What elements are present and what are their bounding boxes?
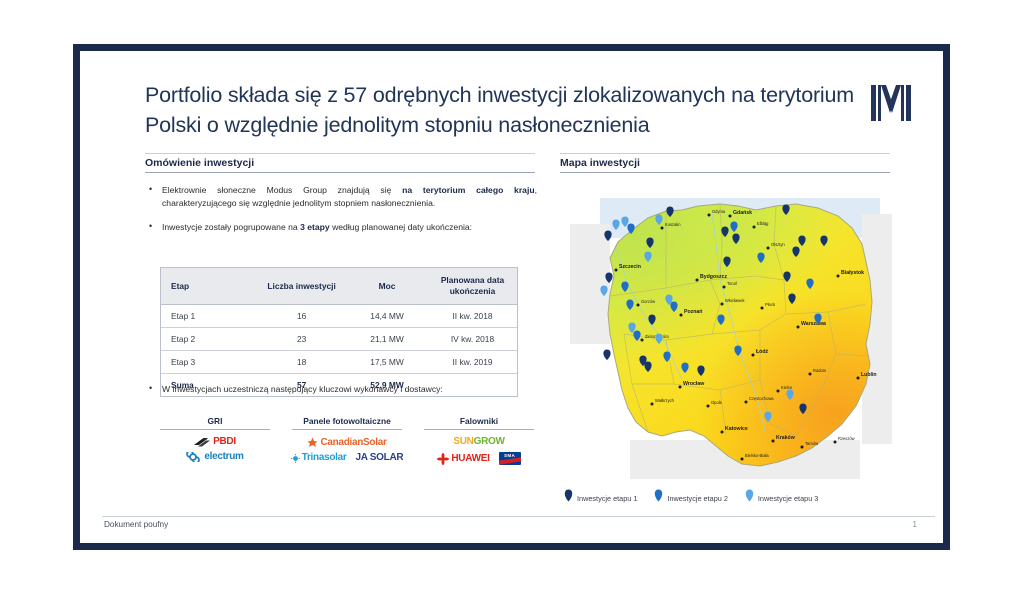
trinasolar-logo: Trinasolar xyxy=(291,453,347,463)
section-label: Omówienie inwestycji xyxy=(145,157,535,172)
map-pin-icon xyxy=(564,489,573,507)
stages-table: EtapLiczba inwestycjiMocPlanowana data u… xyxy=(160,267,518,397)
table-col-header: Liczba inwestycji xyxy=(257,268,346,305)
table-header-row: EtapLiczba inwestycjiMocPlanowana data u… xyxy=(161,268,517,305)
huawei-logo-mark xyxy=(437,453,449,465)
overview-bullets: Elektrownie słoneczne Modus Group znajdu… xyxy=(145,184,537,245)
slide-body: Portfolio składa się z 57 odrębnych inwe… xyxy=(80,51,943,543)
table-cell: 21,1 MW xyxy=(346,328,428,351)
city-label: Płock xyxy=(765,302,776,307)
city-dot xyxy=(772,440,775,443)
canadian-solar-logo-text: CanadianSolar xyxy=(320,438,386,448)
city-label: Wałbrzych xyxy=(655,398,675,403)
table-cell: 17,5 MW xyxy=(346,351,428,374)
city-label: Olsztyn xyxy=(771,242,785,247)
city-dot xyxy=(767,247,770,250)
rule-top xyxy=(560,153,890,154)
city-dot xyxy=(641,339,644,342)
city-dot xyxy=(753,226,756,229)
map-pin-icon xyxy=(745,489,754,507)
city-dot xyxy=(857,377,860,380)
logo-row: PBDI xyxy=(194,437,236,447)
canadian-solar-logo-mark xyxy=(307,437,318,448)
city-label: Warszawa xyxy=(801,321,826,327)
city-dot xyxy=(708,214,711,217)
huawei-logo: HUAWEI xyxy=(437,453,489,465)
table-cell: Etap 1 xyxy=(161,305,257,328)
city-dot xyxy=(721,303,724,306)
table-col-header: Planowana data ukończenia xyxy=(428,268,517,305)
city-label: Kraków xyxy=(776,435,796,441)
rule-top xyxy=(145,153,535,154)
table-row: Etap 11614,4 MWII kw. 2018 xyxy=(161,305,517,328)
supplier-columns: GRIPBDIelectrumPanele fotowoltaiczneCana… xyxy=(152,406,542,465)
electrum-logo-text: electrum xyxy=(204,452,243,462)
section-header-overview: Omówienie inwestycji xyxy=(145,153,535,173)
logo-row: electrum xyxy=(186,452,243,462)
city-label: Radom xyxy=(813,368,827,373)
city-dot xyxy=(723,286,726,289)
pbdi-logo: PBDI xyxy=(194,437,236,447)
pbdi-logo-text: PBDI xyxy=(213,437,236,447)
overview-bullet-1: Elektrownie słoneczne Modus Group znajdu… xyxy=(145,184,537,210)
table-cell: IV kw. 2018 xyxy=(428,328,517,351)
sma-logo: SMA xyxy=(499,452,521,465)
city-dot xyxy=(745,401,748,404)
supplier-rule xyxy=(160,429,270,430)
legend-label: Inwestycje etapu 1 xyxy=(577,494,637,503)
table-cell: Etap 2 xyxy=(161,328,257,351)
table-col-header: Moc xyxy=(346,268,428,305)
trinasolar-logo-text: Trinasolar xyxy=(302,453,347,463)
city-dot xyxy=(834,441,837,444)
legend-item-stage-3: Inwestycje etapu 3 xyxy=(745,489,818,507)
city-dot xyxy=(741,458,744,461)
city-label: Gdańsk xyxy=(733,210,752,216)
electrum-logo: electrum xyxy=(186,452,243,462)
supplier-column-1: GRIPBDIelectrum xyxy=(152,406,278,465)
page-number: 1 xyxy=(913,520,917,529)
electrum-logo-mark xyxy=(186,452,202,462)
suppliers-bullet: W inwestycjach uczestniczą następujący k… xyxy=(145,383,554,396)
city-label: Gdynia xyxy=(712,209,726,214)
table-col-header: Etap xyxy=(161,268,257,305)
footer-text: Dokument poufny xyxy=(104,520,168,529)
city-label: Opole xyxy=(711,400,723,405)
footer-rule xyxy=(102,516,935,517)
logo-row: TrinasolarJA SOLAR xyxy=(291,453,404,463)
table-cell: 18 xyxy=(257,351,346,374)
city-dot xyxy=(777,390,780,393)
map-pin-icon xyxy=(654,489,663,507)
city-dot xyxy=(680,314,683,317)
pbdi-logo-mark xyxy=(194,437,211,447)
table-cell: 16 xyxy=(257,305,346,328)
table-cell: II kw. 2018 xyxy=(428,305,517,328)
city-dot xyxy=(721,431,724,434)
modus-m-logo xyxy=(865,79,917,127)
huawei-logo-text: HUAWEI xyxy=(451,454,489,464)
map-legend: Inwestycje etapu 1Inwestycje etapu 2Inwe… xyxy=(564,489,904,507)
legend-label: Inwestycje etapu 3 xyxy=(758,494,818,503)
slide-frame: Portfolio składa się z 57 odrębnych inwe… xyxy=(73,44,950,550)
ja-solar-logo: JA SOLAR xyxy=(356,453,404,463)
city-label: Tarnów xyxy=(805,441,818,446)
supplier-column-2: Panele fotowoltaiczneCanadianSolarTrinas… xyxy=(284,406,410,465)
page-title: Portfolio składa się z 57 odrębnych inwe… xyxy=(145,80,865,140)
city-label: Bielsko-Biała xyxy=(745,453,769,458)
investment-map: SzczecinGdyniaGdańskElblągKoszalinBydgos… xyxy=(560,184,900,479)
rule-bottom xyxy=(145,172,535,173)
logo-row: SUNGROW xyxy=(453,437,504,447)
city-dot xyxy=(729,215,732,218)
city-dot xyxy=(679,386,682,389)
city-label: Katowice xyxy=(725,426,748,432)
city-dot xyxy=(637,304,640,307)
legend-item-stage-1: Inwestycje etapu 1 xyxy=(564,489,637,507)
logo-row: CanadianSolar xyxy=(307,437,386,448)
city-dot xyxy=(707,405,710,408)
city-label: Gorzów xyxy=(641,299,655,304)
table-cell: Etap 3 xyxy=(161,351,257,374)
city-label: Koszalin xyxy=(665,222,681,227)
city-label: Toruń xyxy=(727,281,738,286)
legend-label: Inwestycje etapu 2 xyxy=(667,494,727,503)
supplier-logos: SUNGROWHUAWEISMA xyxy=(416,437,542,465)
sungrow-logo: SUNGROW xyxy=(453,437,504,447)
city-label: Poznań xyxy=(684,309,702,315)
city-label: Wrocław xyxy=(683,381,705,387)
city-dot xyxy=(661,227,664,230)
legend-item-stage-2: Inwestycje etapu 2 xyxy=(654,489,727,507)
supplier-rule xyxy=(424,429,534,430)
canadian-solar-logo: CanadianSolar xyxy=(307,437,386,448)
sungrow-logo-text: SUNGROW xyxy=(453,437,504,447)
city-dot xyxy=(615,269,618,272)
ja-solar-logo-text: JA SOLAR xyxy=(356,453,404,463)
table-cell: II kw. 2019 xyxy=(428,351,517,374)
city-dot xyxy=(696,279,699,282)
supplier-logos: CanadianSolarTrinasolarJA SOLAR xyxy=(284,437,410,463)
supplier-column-3: FalownikiSUNGROWHUAWEISMA xyxy=(416,406,542,465)
city-dot xyxy=(651,403,654,406)
city-label: Bydgoszcz xyxy=(700,274,728,280)
overview-bullet-2: Inwestycje zostały pogrupowane na 3 etap… xyxy=(145,221,537,234)
city-dot xyxy=(752,354,755,357)
supplier-column-heading: Panele fotowoltaiczne xyxy=(284,406,410,426)
sma-logo-bar xyxy=(499,457,521,464)
section-label: Mapa inwestycji xyxy=(560,157,890,172)
city-dot xyxy=(809,373,812,376)
city-label: Kielce xyxy=(781,385,793,390)
city-label: Łódź xyxy=(756,349,769,355)
trinasolar-logo-mark xyxy=(291,454,300,463)
rule-bottom xyxy=(560,172,890,173)
city-label: Częstochowa xyxy=(749,396,774,401)
city-label: Rzeszów xyxy=(838,436,855,441)
city-dot xyxy=(801,446,804,449)
table-cell: 14,4 MW xyxy=(346,305,428,328)
supplier-rule xyxy=(292,429,402,430)
city-label: Elbląg xyxy=(757,221,769,226)
city-dot xyxy=(837,275,840,278)
table-cell: 23 xyxy=(257,328,346,351)
city-dot xyxy=(761,307,764,310)
city-label: Białystok xyxy=(841,270,864,276)
section-header-map: Mapa inwestycji xyxy=(560,153,890,173)
supplier-logos: PBDIelectrum xyxy=(152,437,278,462)
table-row: Etap 31817,5 MWII kw. 2019 xyxy=(161,351,517,374)
city-label: Lublin xyxy=(861,372,877,378)
city-dot xyxy=(797,326,800,329)
table-row: Etap 22321,1 MWIV kw. 2018 xyxy=(161,328,517,351)
logo-row: HUAWEISMA xyxy=(437,452,520,465)
sma-logo-box: SMA xyxy=(499,452,521,465)
supplier-column-heading: GRI xyxy=(152,406,278,426)
supplier-column-heading: Falowniki xyxy=(416,406,542,426)
city-label: Włocławek xyxy=(725,298,746,303)
city-label: Szczecin xyxy=(619,264,641,270)
